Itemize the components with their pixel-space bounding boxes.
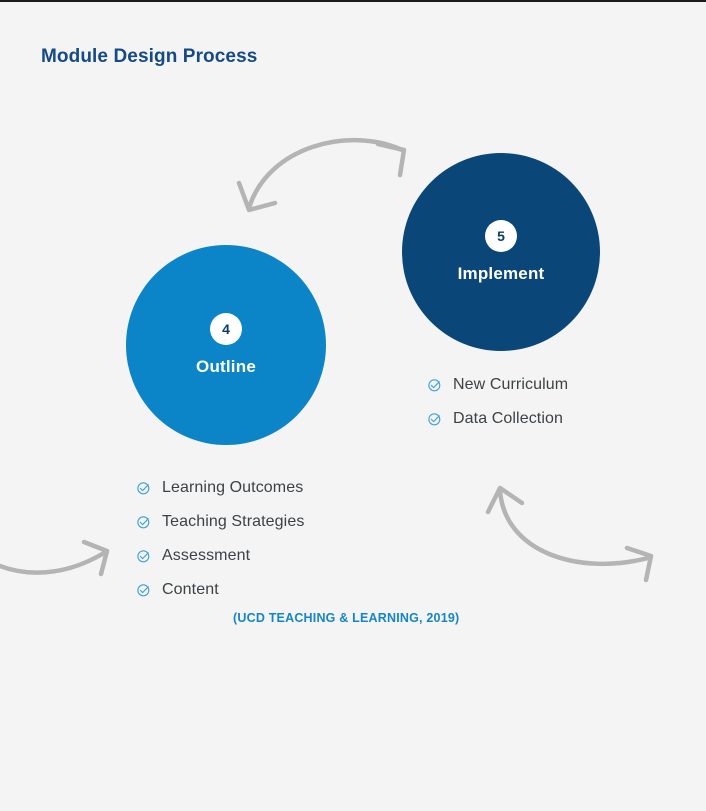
list-item[interactable]: Teaching Strategies — [136, 505, 304, 539]
list-item-label: New Curriculum — [453, 376, 568, 394]
list-item-label: Content — [162, 581, 219, 599]
check-circle-icon — [427, 411, 443, 427]
arrow-left-incoming — [0, 542, 107, 574]
list-item-label: Assessment — [162, 547, 250, 565]
arrow-implement-outgoing — [488, 488, 651, 580]
citation-text: (UCD TEACHING & LEARNING, 2019) — [233, 611, 459, 625]
list-item-label: Data Collection — [453, 410, 563, 428]
list-item-label: Teaching Strategies — [162, 513, 304, 531]
step-label-implement: Implement — [458, 264, 545, 284]
step-number-badge-implement: 5 — [485, 220, 517, 252]
arrow-outline-to-implement — [239, 140, 404, 210]
list-item[interactable]: Learning Outcomes — [136, 471, 304, 505]
step-label-outline: Outline — [196, 357, 256, 377]
step-number-badge-outline: 4 — [210, 313, 242, 345]
list-item[interactable]: Data Collection — [427, 402, 568, 436]
list-item[interactable]: Content — [136, 573, 304, 607]
top-edge-strip — [0, 0, 706, 2]
check-circle-icon — [136, 582, 152, 598]
step-circle-outline[interactable]: 4 Outline — [126, 245, 326, 445]
list-item[interactable]: Assessment — [136, 539, 304, 573]
check-circle-icon — [136, 480, 152, 496]
list-item[interactable]: New Curriculum — [427, 368, 568, 402]
implement-bullet-list: New Curriculum Data Collection — [427, 368, 568, 436]
connector-arrows-layer — [0, 0, 706, 811]
step-circle-implement[interactable]: 5 Implement — [402, 153, 600, 351]
check-circle-icon — [427, 377, 443, 393]
outline-bullet-list: Learning Outcomes Teaching Strategies As… — [136, 471, 304, 607]
list-item-label: Learning Outcomes — [162, 479, 303, 497]
check-circle-icon — [136, 548, 152, 564]
page-title: Module Design Process — [41, 46, 257, 68]
check-circle-icon — [136, 514, 152, 530]
slide-canvas: Module Design Process 4 Outline — [0, 0, 706, 811]
